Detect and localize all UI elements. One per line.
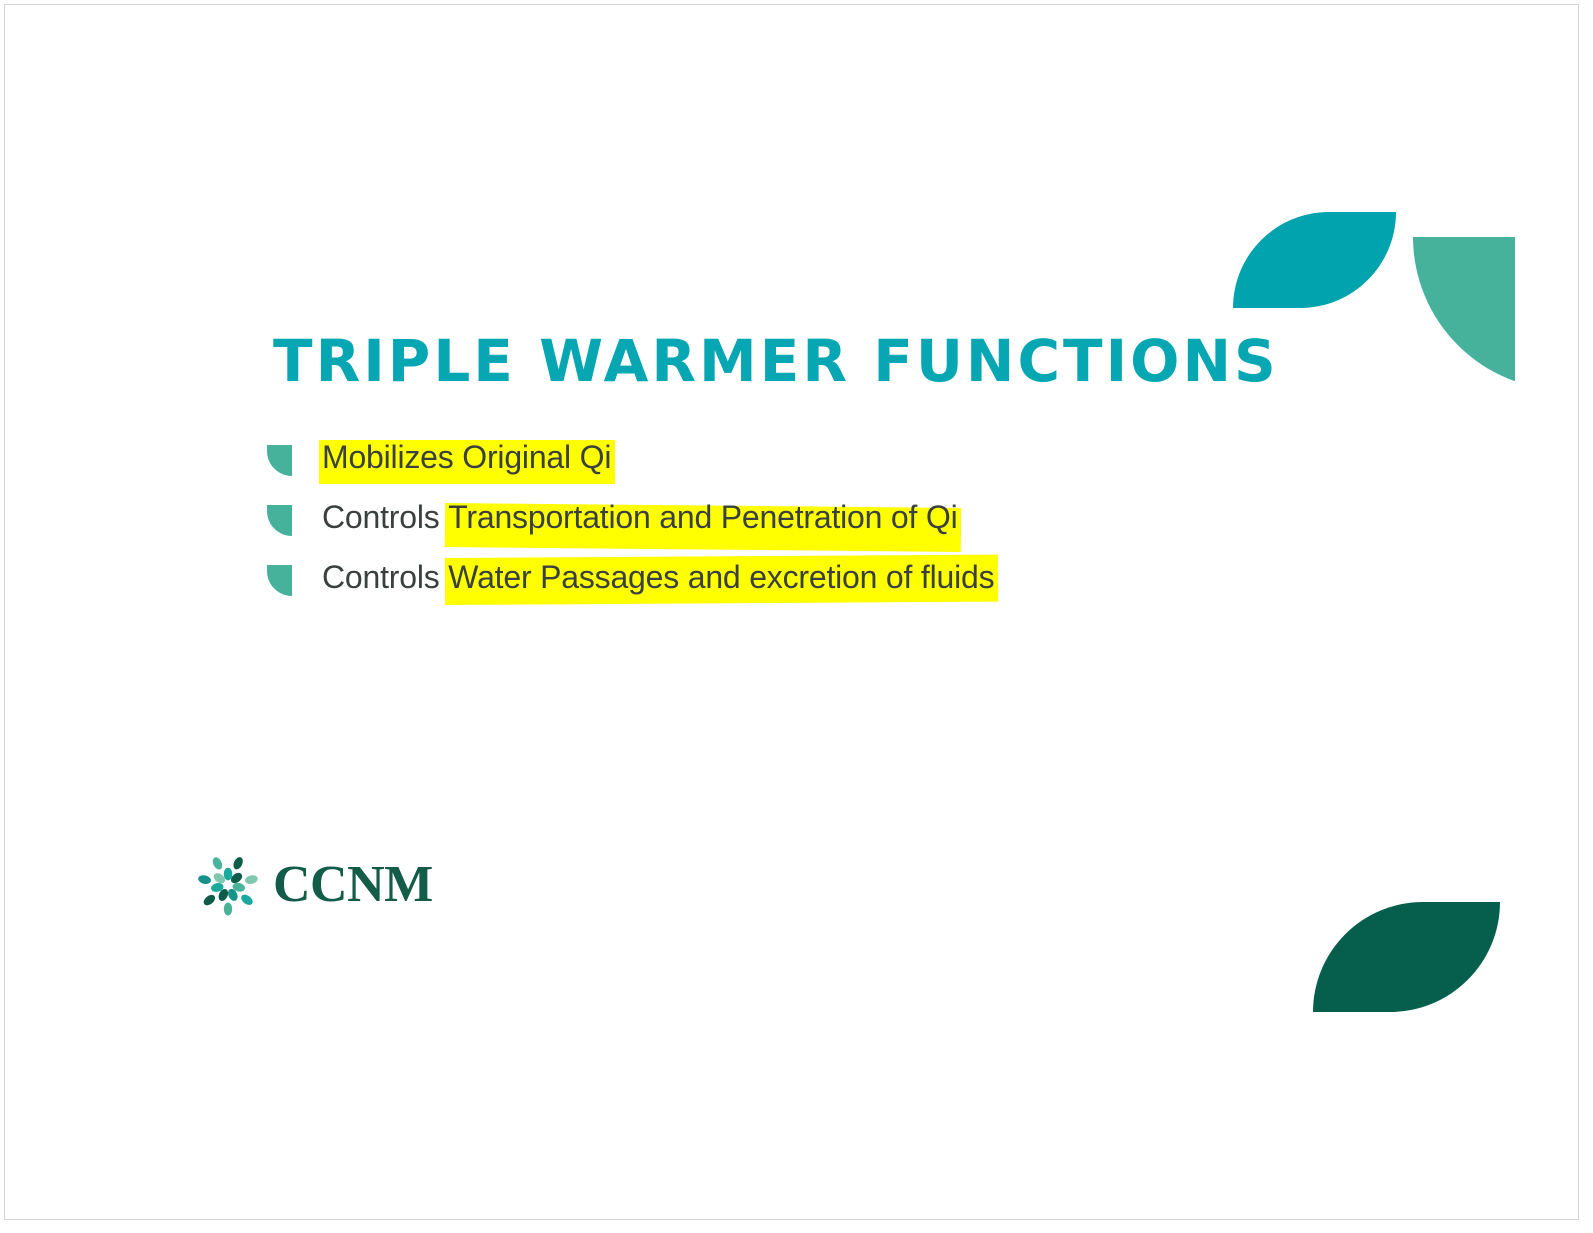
bullet-item: Controls Water Passages and excretion of… — [267, 557, 1367, 617]
highlighted-run: Transportation and Penetration of Qi — [448, 497, 957, 537]
highlighted-text: Mobilizes Original Qi — [322, 439, 611, 475]
bullet-item-text: Controls Transportation and Penetration … — [322, 497, 1367, 537]
teal-leaf-shape — [1233, 212, 1396, 308]
green-leaf-shape-body — [1413, 237, 1515, 390]
leaf-bullet-icon — [267, 565, 292, 596]
bullet-plain-text: Controls — [322, 499, 448, 535]
slide-title: TRIPLE WARMER FUNCTIONS — [273, 331, 1279, 392]
bullet-item: Controls Transportation and Penetration … — [267, 497, 1367, 557]
highlighted-text: Transportation and Penetration of Qi — [448, 499, 957, 535]
dark-green-leaf-shape — [1313, 902, 1500, 1012]
leaf-bullet-icon — [267, 505, 292, 536]
bullet-plain-text: Controls — [322, 559, 448, 595]
ccnm-logo: CCNM — [195, 850, 430, 920]
presentation-slide: TRIPLE WARMER FUNCTIONS Mobilizes Origin… — [4, 4, 1579, 1220]
ccnm-wordmark: CCNM — [273, 859, 433, 911]
bullet-item-text: Controls Water Passages and excretion of… — [322, 557, 1367, 597]
ccnm-leaf-burst-icon — [195, 852, 261, 918]
bullet-item-text: Mobilizes Original Qi — [322, 437, 1367, 477]
highlighted-text: Water Passages and excretion of fluids — [448, 559, 994, 595]
highlighted-run: Water Passages and excretion of fluids — [448, 557, 994, 597]
bullet-item: Mobilizes Original Qi — [267, 437, 1367, 497]
leaf-bullet-icon — [267, 445, 292, 476]
highlighted-run: Mobilizes Original Qi — [322, 437, 611, 477]
green-leaf-shape — [1413, 237, 1515, 390]
bullet-list: Mobilizes Original Qi Controls Transport… — [267, 437, 1367, 617]
